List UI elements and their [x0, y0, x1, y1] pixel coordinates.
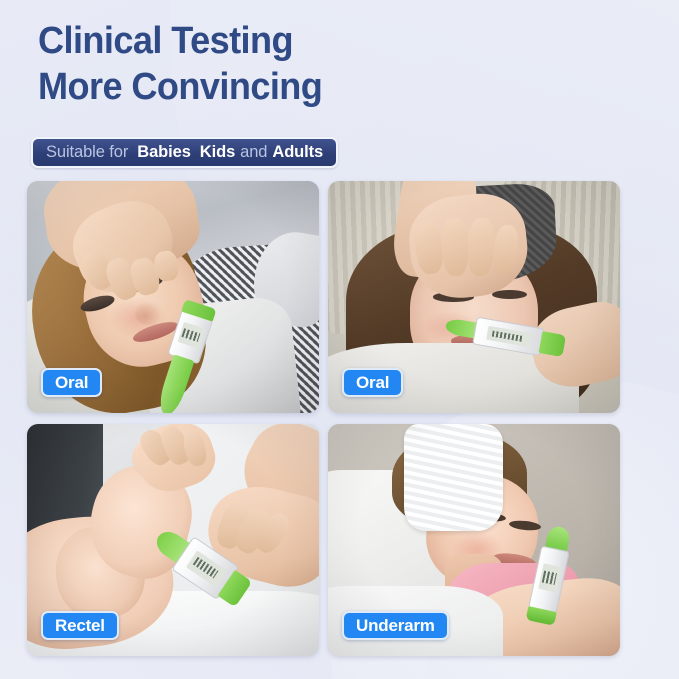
- audience-banner: Suitable for Babies Kids and Adults: [31, 137, 338, 168]
- badge-rectal-baby: Rectel: [41, 611, 119, 640]
- page-title-line-1: Clinical Testing: [38, 18, 456, 64]
- banner-conjunction: and: [240, 143, 267, 162]
- card-underarm-child[interactable]: Underarm: [328, 424, 620, 656]
- badge-underarm-child: Underarm: [342, 611, 449, 640]
- card-oral-teen[interactable]: Oral: [328, 181, 620, 413]
- card-rectal-baby[interactable]: Rectel: [27, 424, 319, 656]
- banner-audience-babies: Babies: [137, 143, 191, 162]
- banner-prefix: Suitable for: [46, 143, 128, 162]
- page-title-line-2: More Convincing: [38, 64, 456, 110]
- banner-audience-adults: Adults: [272, 143, 323, 162]
- badge-oral-child: Oral: [41, 368, 102, 397]
- page-root: Clinical Testing More Convincing Suitabl…: [0, 0, 679, 679]
- page-header: Clinical Testing More Convincing: [38, 18, 478, 110]
- card-oral-child[interactable]: Oral: [27, 181, 319, 413]
- banner-audience-kids: Kids: [200, 143, 235, 162]
- badge-oral-teen: Oral: [342, 368, 403, 397]
- usage-photo-grid: Oral: [27, 181, 652, 656]
